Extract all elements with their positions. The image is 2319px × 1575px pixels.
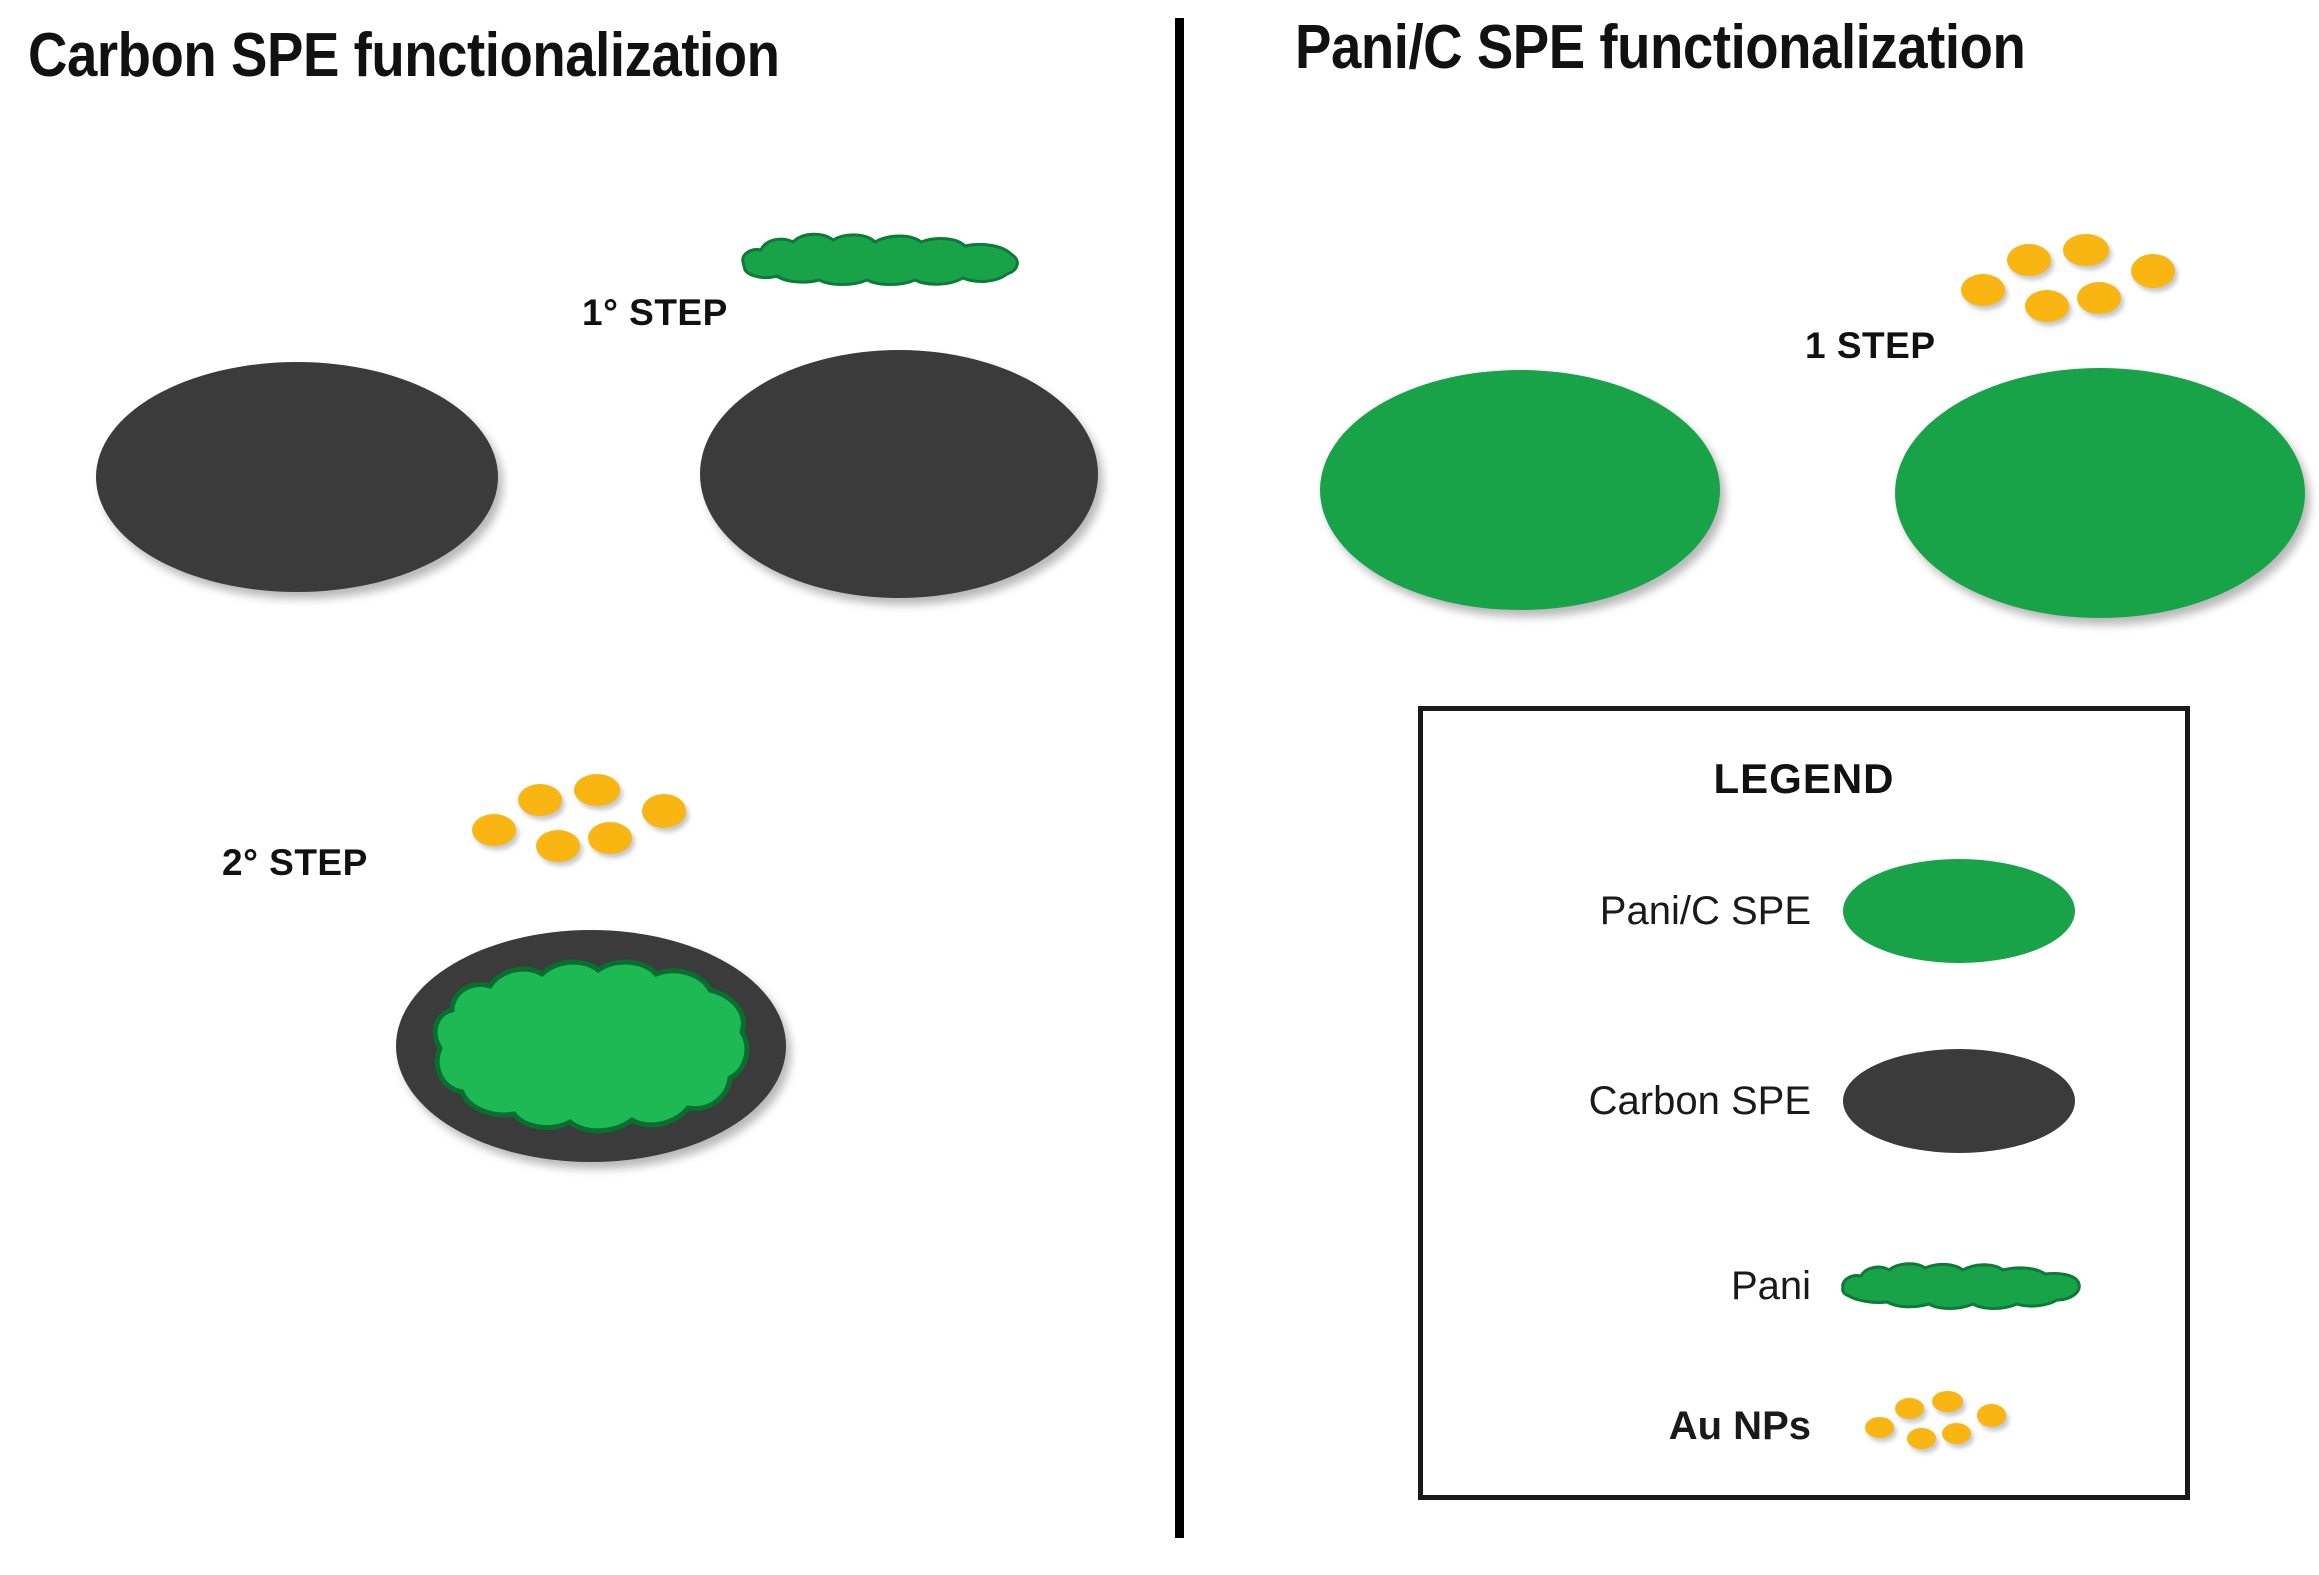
- carbon-spe-ellipse-target: [700, 350, 1098, 598]
- pani-blob-icon: [735, 228, 1025, 290]
- pani-coating-layer: [422, 952, 760, 1138]
- dark-gray-ellipse-icon: [1843, 1049, 2075, 1153]
- au-nanoparticle-dot: [2063, 234, 2109, 266]
- legend-item-pani-c-spe: Pani/C SPE: [1423, 846, 2185, 976]
- panel-left-title: Carbon SPE functionalization: [28, 20, 780, 91]
- legend-swatch-carbon-spe: [1833, 1036, 2185, 1166]
- pani-c-spe-composite: [396, 930, 786, 1162]
- legend-swatch-pani-c-spe: [1833, 846, 2185, 976]
- au-nanoparticle-dot: [588, 822, 632, 854]
- legend-swatch-pani: [1833, 1221, 2185, 1351]
- au-nanoparticle-dot: [518, 784, 562, 816]
- step-label-1-right: 1 STEP: [1805, 325, 1936, 367]
- carbon-spe-ellipse-bare: [96, 362, 498, 592]
- legend-item-au-nps: Au NPs: [1423, 1361, 2185, 1491]
- pani-c-spe-ellipse-bare: [1320, 370, 1720, 610]
- legend-title: LEGEND: [1423, 755, 2185, 803]
- panel-carbon-spe: Carbon SPE functionalization 1° STEP 2° …: [0, 0, 1175, 1575]
- au-nps-cluster-right: [1955, 228, 2185, 338]
- au-nanoparticle-dot: [1977, 1404, 2006, 1426]
- au-nps-cluster-left: [466, 768, 696, 878]
- au-nanoparticle-dot: [1942, 1423, 1971, 1444]
- legend-item-carbon-spe: Carbon SPE: [1423, 1036, 2185, 1166]
- pani-c-spe-ellipse-target: [1895, 368, 2305, 618]
- legend-label-carbon-spe: Carbon SPE: [1423, 1079, 1833, 1124]
- green-blob-icon: [1835, 1258, 2085, 1314]
- figure-canvas: Carbon SPE functionalization 1° STEP 2° …: [0, 0, 2319, 1575]
- au-nanoparticle-dot: [2131, 254, 2175, 288]
- au-nanoparticle-dot: [1895, 1398, 1924, 1419]
- au-nanoparticle-dot: [574, 774, 620, 806]
- au-nanoparticle-dot: [2077, 282, 2121, 314]
- au-nanoparticle-dot: [1932, 1391, 1962, 1412]
- step-label-1-left: 1° STEP: [582, 292, 728, 334]
- au-nanoparticle-dot: [472, 814, 516, 846]
- legend-item-pani: Pani: [1423, 1221, 2185, 1351]
- gold-nanoparticle-cluster-icon: [1861, 1387, 2011, 1465]
- legend-box: LEGEND Pani/C SPE Carbon SPE Pani: [1418, 706, 2190, 1500]
- panel-right-title: Pani/C SPE functionalization: [1295, 12, 2025, 83]
- au-nanoparticle-dot: [1907, 1428, 1936, 1449]
- legend-label-au-nps: Au NPs: [1423, 1404, 1833, 1449]
- legend-label-pani-c-spe: Pani/C SPE: [1423, 889, 1833, 934]
- au-nanoparticle-dot: [2007, 244, 2051, 276]
- au-nanoparticle-dot: [2025, 290, 2069, 322]
- step-label-2-left: 2° STEP: [222, 842, 368, 884]
- au-nanoparticle-dot: [642, 794, 686, 828]
- green-ellipse-icon: [1843, 859, 2075, 963]
- au-nanoparticle-dot: [536, 830, 580, 862]
- legend-swatch-au-nps: [1833, 1361, 2185, 1491]
- legend-label-pani: Pani: [1423, 1264, 1833, 1309]
- au-nanoparticle-dot: [1961, 274, 2005, 306]
- au-nanoparticle-dot: [1865, 1417, 1894, 1438]
